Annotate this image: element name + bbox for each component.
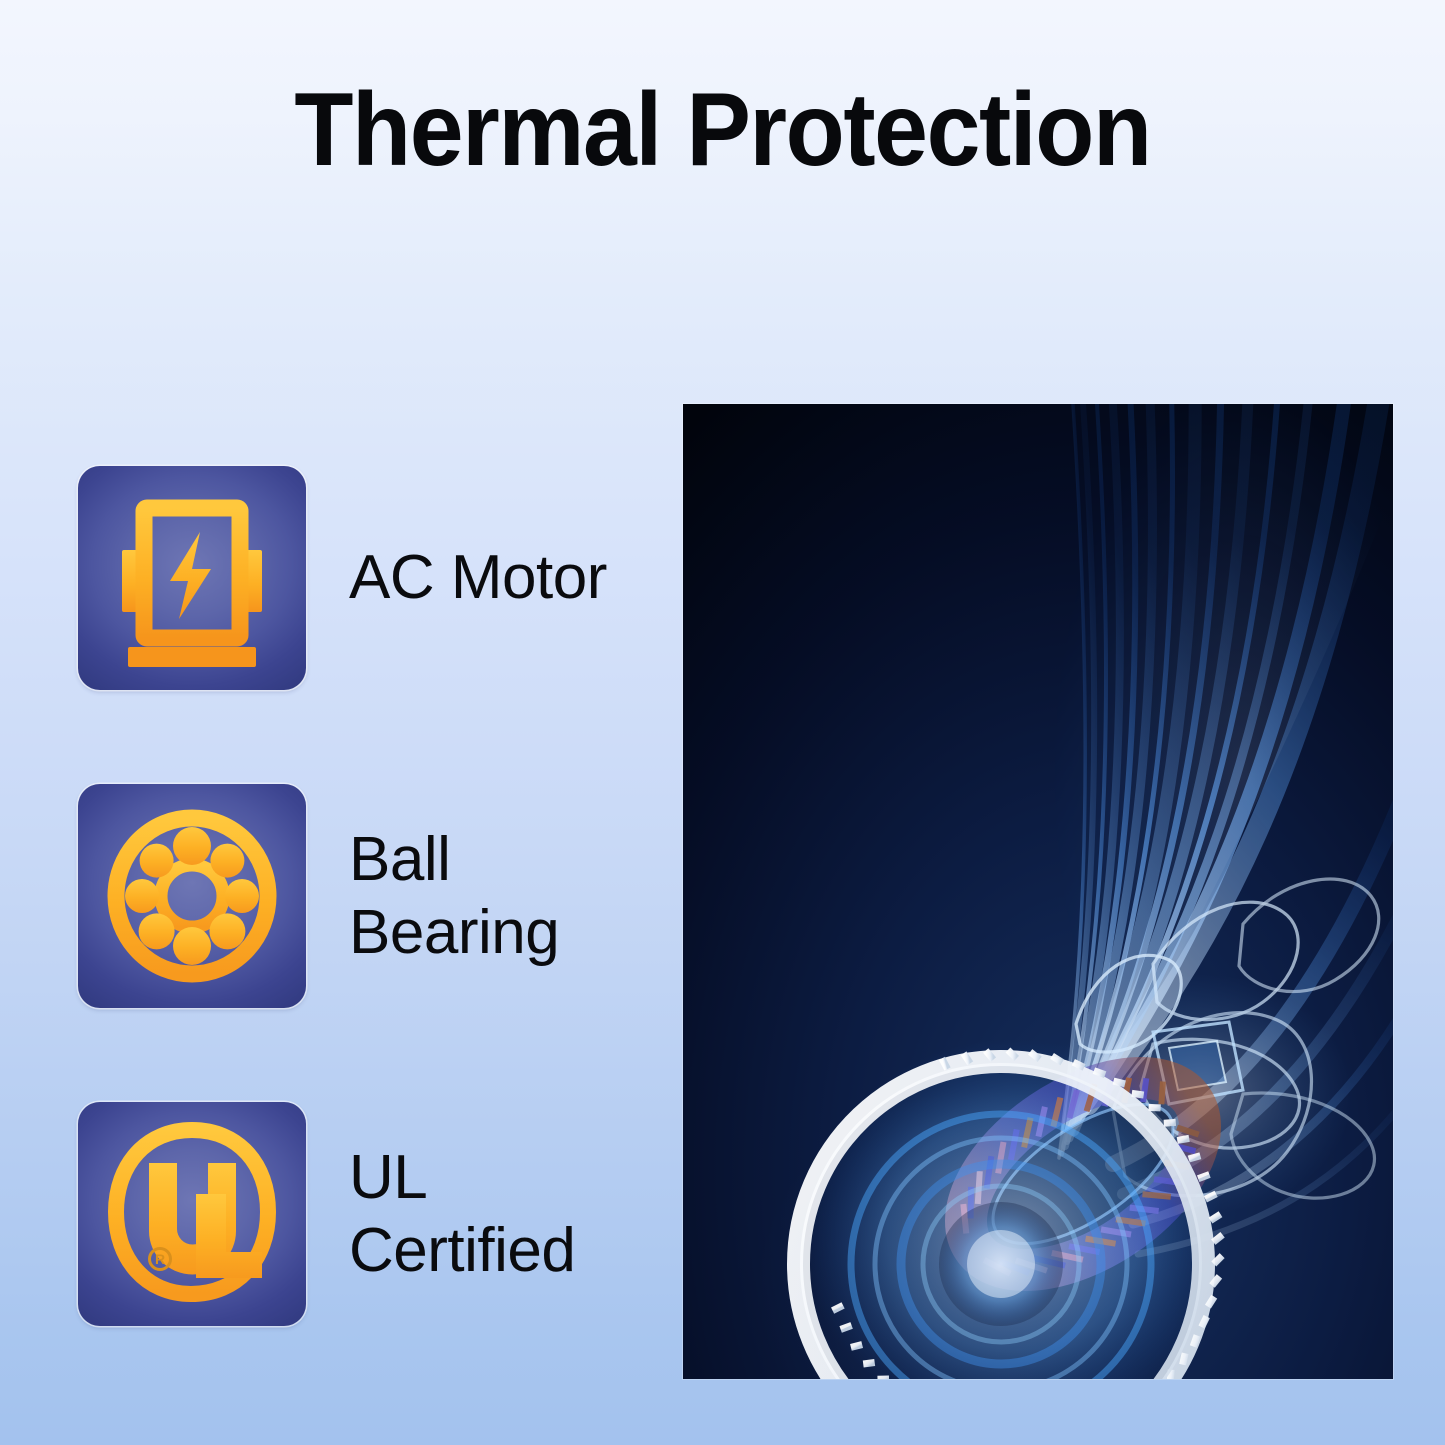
ac-motor-icon-tile [78, 466, 306, 690]
feature-label-ac-motor: AC Motor [349, 541, 678, 614]
feature-item-ul-certified: R UL Certified [78, 1102, 678, 1326]
ul-certified-icon: R [78, 1102, 306, 1326]
feature-label-ul-certified: UL Certified [349, 1141, 678, 1287]
infographic-root: Thermal Protection [0, 0, 1445, 1445]
feature-item-ball-bearing: Ball Bearing [78, 784, 678, 1008]
svg-text:R: R [155, 1251, 165, 1267]
ac-motor-icon [78, 466, 306, 690]
ball-bearing-icon-tile [78, 784, 306, 1008]
feature-label-ball-bearing: Ball Bearing [349, 823, 678, 969]
ball-bearing-icon [78, 784, 306, 1008]
product-photo [683, 404, 1393, 1379]
page-title: Thermal Protection [51, 78, 1395, 182]
feature-item-ac-motor: AC Motor [78, 466, 678, 690]
ul-certified-icon-tile: R [78, 1102, 306, 1326]
fan-motor-render [683, 404, 1393, 1379]
